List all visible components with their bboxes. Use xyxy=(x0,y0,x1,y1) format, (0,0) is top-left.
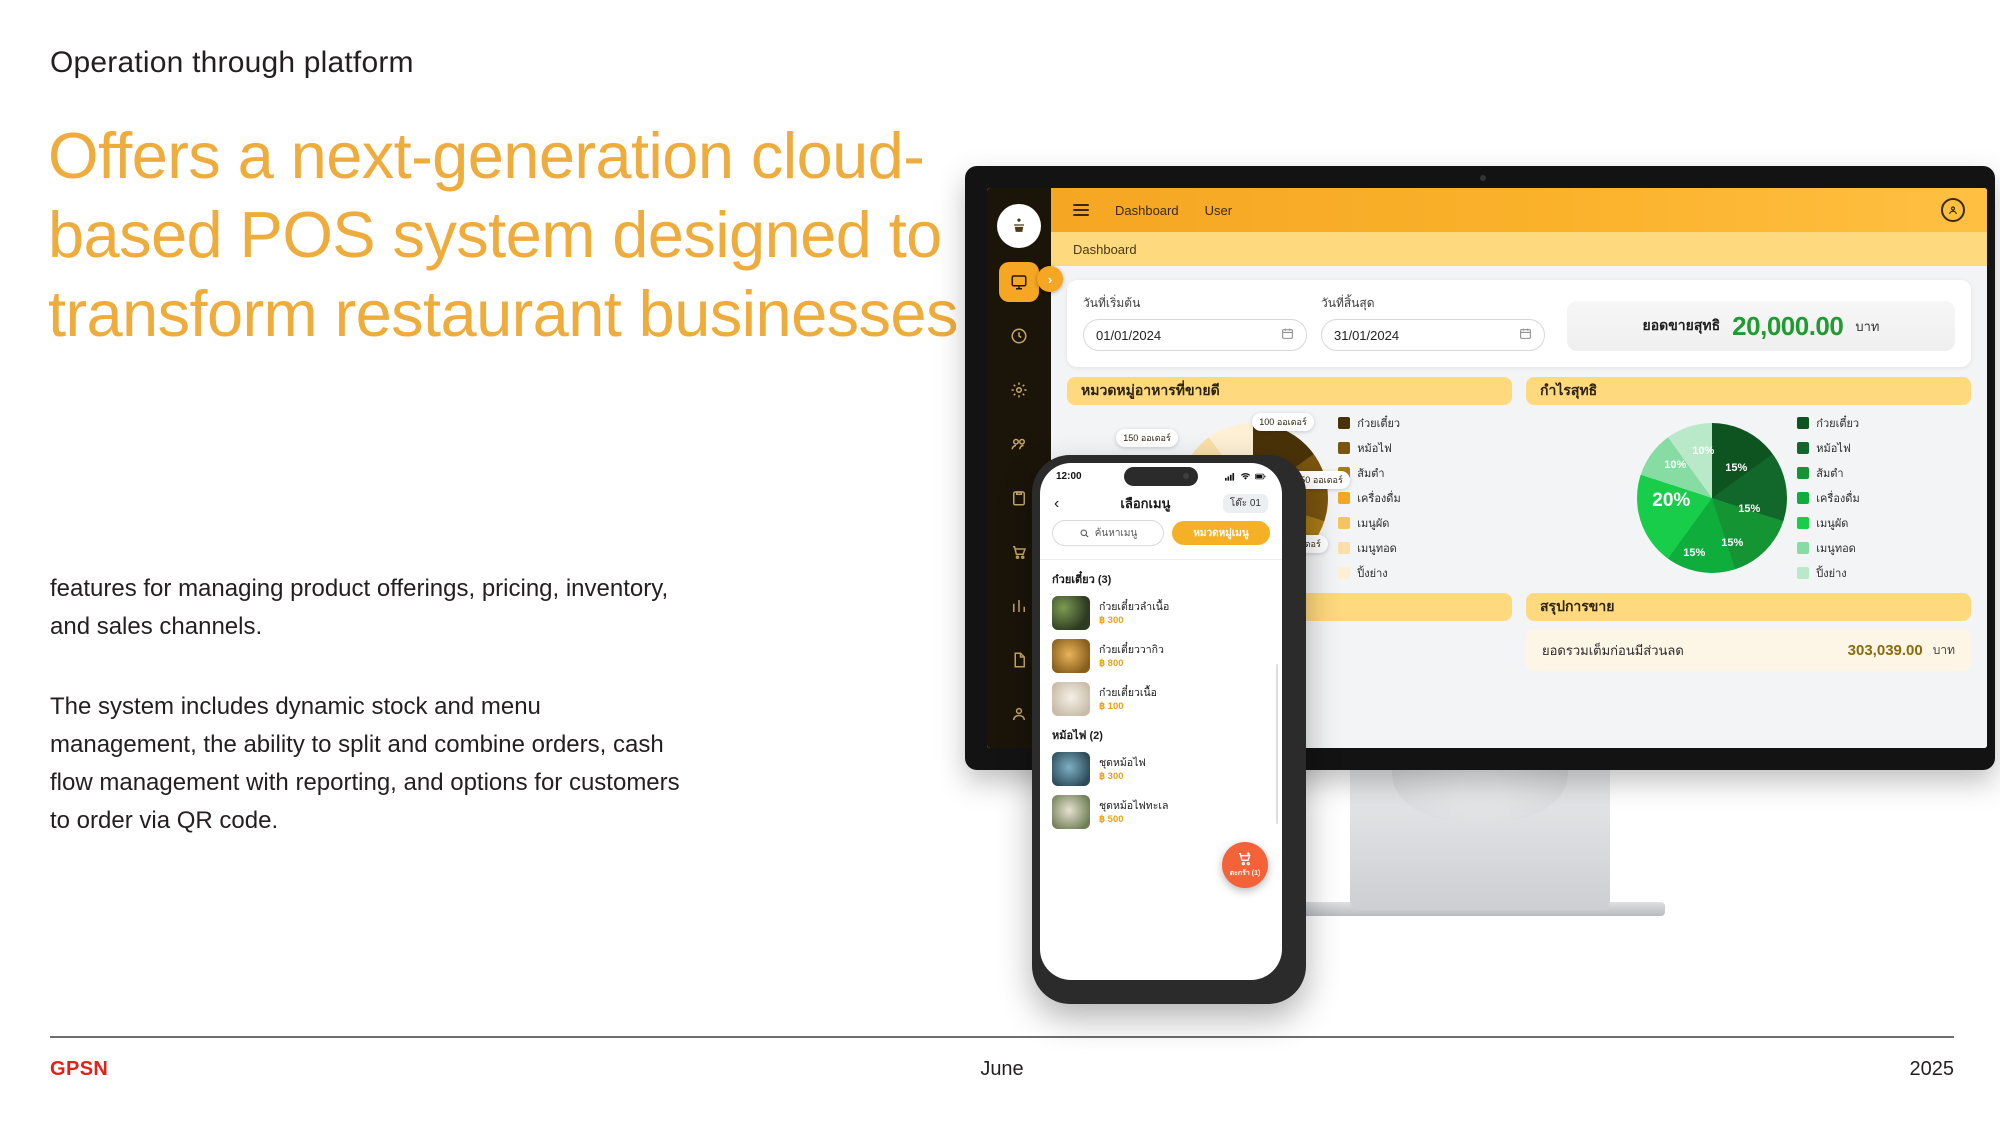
legend-label: เครื่องดื่ม xyxy=(1816,489,1859,507)
sidebar-item-group[interactable] xyxy=(999,424,1039,464)
wifi-icon xyxy=(1240,472,1251,481)
legend-label: ก๋วยเตี๋ยว xyxy=(1816,414,1859,432)
cart-button[interactable]: ตะกร้า (1) xyxy=(1222,842,1268,888)
net-profit-chart: 15% 15% 15% 15% 20% 10% 10% xyxy=(1526,413,1971,583)
body-copy: features for managing product offerings,… xyxy=(50,570,690,840)
legend-label: ปิ้งย่าง xyxy=(1357,564,1387,582)
menu-item-name: ชุดหม้อไฟ xyxy=(1099,756,1146,770)
pie-label-3: 15% xyxy=(1721,537,1743,549)
user-circle-icon[interactable] xyxy=(1941,198,1965,222)
net-profit-panel: กำไรสุทธิ 15% 15% 15% 15% 20% 10% xyxy=(1526,377,1971,583)
pie-label-2: 15% xyxy=(1738,503,1760,515)
legend-item: เมนูทอด xyxy=(1338,539,1400,557)
net-profit-title: กำไรสุทธิ xyxy=(1526,377,1971,405)
list-scrollbar[interactable] xyxy=(1276,664,1278,824)
net-profit-legend: ก๋วยเตี๋ยว หม้อไฟ ส้มตำ เครื่องดื่ม เมนู… xyxy=(1797,414,1859,582)
sidebar-item-settings[interactable] xyxy=(999,370,1039,410)
summary-unit: บาท xyxy=(1933,641,1955,660)
legend-item: ก๋วยเตี๋ยว xyxy=(1338,414,1400,432)
legend-item: ส้มตำ xyxy=(1797,464,1859,482)
legend-item: ปิ้งย่าง xyxy=(1338,564,1400,582)
legend-item: หม้อไฟ xyxy=(1797,439,1859,457)
legend-label: หม้อไฟ xyxy=(1816,439,1850,457)
summary-value: 303,039.00 xyxy=(1848,642,1923,659)
list-item[interactable]: ชุดหม้อไฟทะเล ฿ 500 xyxy=(1052,795,1270,829)
net-sales-label: ยอดขายสุทธิ xyxy=(1643,315,1721,337)
list-item[interactable]: ก๋วยเตี๋ยวเนื้อ ฿ 100 xyxy=(1052,682,1270,716)
legend-swatch xyxy=(1797,542,1809,554)
search-icon xyxy=(1079,528,1090,539)
end-date-value: 31/01/2024 xyxy=(1334,328,1399,343)
legend-swatch xyxy=(1338,442,1350,454)
phone-nav-bar: ‹ เลือกเมนู โต๊ะ 01 xyxy=(1040,489,1282,520)
menu-item-price: ฿ 300 xyxy=(1099,771,1146,782)
chevron-left-icon[interactable]: ‹ xyxy=(1054,495,1068,513)
dynamic-island xyxy=(1124,467,1198,486)
menu-item-name: ชุดหม้อไฟทะเล xyxy=(1099,799,1168,813)
menu-group-title: ก๋วยเตี๋ยว (3) xyxy=(1052,570,1270,588)
legend-item: เครื่องดื่ม xyxy=(1338,489,1400,507)
breadcrumb: Dashboard xyxy=(1051,232,1987,266)
legend-label: หม้อไฟ xyxy=(1357,439,1391,457)
menu-item-price: ฿ 800 xyxy=(1099,658,1164,669)
filter-card: วันที่เริ่มต้น 01/01/2024 xyxy=(1067,280,1971,367)
donut-label-2: 100 ออเดอร์ xyxy=(1252,413,1314,431)
menu-item-thumbnail xyxy=(1052,596,1090,630)
menu-item-thumbnail xyxy=(1052,795,1090,829)
footer-month: June xyxy=(50,1058,1954,1081)
legend-swatch xyxy=(1797,517,1809,529)
pie-label-4: 15% xyxy=(1683,547,1705,559)
footer: GPSN June 2025 xyxy=(50,1052,1954,1092)
dashboard-topbar: Dashboard User xyxy=(1051,188,1987,232)
top-categories-legend: ก๋วยเตี๋ยว หม้อไฟ ส้มตำ เครื่องดื่ม เมนู… xyxy=(1338,414,1400,582)
body-paragraph-2: The system includes dynamic stock and me… xyxy=(50,688,690,840)
legend-swatch xyxy=(1797,417,1809,429)
pie-chart: 15% 15% 15% 15% 20% 10% 10% xyxy=(1637,423,1787,573)
menu-group-title: หม้อไฟ (2) xyxy=(1052,726,1270,744)
summary-label: ยอดรวมเต็มก่อนมีส่วนลด xyxy=(1542,640,1684,661)
summary-line: ยอดรวมเต็มก่อนมีส่วนลด 303,039.00 บาท xyxy=(1526,629,1971,671)
sales-summary-title: สรุปการขาย xyxy=(1526,593,1971,621)
body-paragraph-1: features for managing product offerings,… xyxy=(50,570,690,646)
legend-label: ปิ้งย่าง xyxy=(1816,564,1846,582)
pie-label-1: 15% xyxy=(1725,462,1747,474)
calendar-icon[interactable] xyxy=(1281,327,1294,343)
page-title: Offers a next-generation cloud-based POS… xyxy=(48,116,978,353)
legend-label: เครื่องดื่ม xyxy=(1357,489,1400,507)
phone-status-bar: 12:00 xyxy=(1040,463,1282,489)
search-placeholder: ค้นหาเมนู xyxy=(1095,526,1138,541)
menu-item-price: ฿ 300 xyxy=(1099,615,1169,626)
phone-search-row: ค้นหาเมนู หมวดหมู่เมนู xyxy=(1040,520,1282,554)
legend-swatch xyxy=(1338,567,1350,579)
net-sales-unit: บาท xyxy=(1855,316,1879,337)
eyebrow-text: Operation through platform xyxy=(50,46,414,80)
legend-label: ส้มตำ xyxy=(1357,464,1384,482)
list-item[interactable]: ชุดหม้อไฟ ฿ 300 xyxy=(1052,752,1270,786)
legend-label: ส้มตำ xyxy=(1816,464,1843,482)
legend-label: เมนูผัด xyxy=(1357,514,1389,532)
end-date-label: วันที่สิ้นสุด xyxy=(1321,294,1545,313)
list-item[interactable]: ก๋วยเตี๋ยวลำเนื้อ ฿ 300 xyxy=(1052,596,1270,630)
legend-item: เครื่องดื่ม xyxy=(1797,489,1859,507)
sales-summary-panel: สรุปการขาย ยอดรวมเต็มก่อนมีส่วนลด 303,03… xyxy=(1526,593,1971,671)
list-item[interactable]: ก๋วยเตี๋ยววากิว ฿ 800 xyxy=(1052,639,1270,673)
menu-list[interactable]: ก๋วยเตี๋ยว (3) ก๋วยเตี๋ยวลำเนื้อ ฿ 300 ก… xyxy=(1040,559,1282,980)
start-date-field: วันที่เริ่มต้น 01/01/2024 xyxy=(1083,294,1307,351)
status-time: 12:00 xyxy=(1056,471,1082,482)
category-button[interactable]: หมวดหมู่เมนู xyxy=(1172,521,1270,545)
legend-swatch xyxy=(1797,467,1809,479)
sidebar-toggle-button[interactable]: › xyxy=(1037,266,1063,292)
phone-screen: 12:00 ‹ เลือกเมนู โต๊ะ 01 ค้นหาเมนู หมวด… xyxy=(1040,463,1282,980)
legend-swatch xyxy=(1338,492,1350,504)
table-badge: โต๊ะ 01 xyxy=(1223,494,1268,513)
hamburger-icon[interactable] xyxy=(1073,204,1089,216)
start-date-input[interactable]: 01/01/2024 xyxy=(1083,319,1307,351)
legend-item: ปิ้งย่าง xyxy=(1797,564,1859,582)
legend-item: เมนูทอด xyxy=(1797,539,1859,557)
pie-label-6: 10% xyxy=(1664,459,1686,471)
battery-icon xyxy=(1255,472,1266,481)
status-icons xyxy=(1225,472,1266,481)
top-categories-title: หมวดหมู่อาหารที่ขายดี xyxy=(1067,377,1512,405)
donut-label-1: 150 ออเดอร์ xyxy=(1116,429,1178,447)
legend-swatch xyxy=(1797,567,1809,579)
monitor-stand xyxy=(1350,770,1610,910)
start-date-label: วันที่เริ่มต้น xyxy=(1083,294,1307,313)
net-sales-value: 20,000.00 xyxy=(1732,311,1843,342)
nav-item-dashboard[interactable]: Dashboard xyxy=(1115,203,1179,218)
menu-item-thumbnail xyxy=(1052,752,1090,786)
menu-item-thumbnail xyxy=(1052,682,1090,716)
legend-label: เมนูผัด xyxy=(1816,514,1848,532)
net-sales-card: ยอดขายสุทธิ 20,000.00 บาท xyxy=(1567,301,1955,351)
calendar-icon[interactable] xyxy=(1519,327,1532,343)
legend-swatch xyxy=(1338,542,1350,554)
legend-item: ก๋วยเตี๋ยว xyxy=(1797,414,1859,432)
menu-item-name: ก๋วยเตี๋ยววากิว xyxy=(1099,643,1164,657)
menu-item-thumbnail xyxy=(1052,639,1090,673)
legend-item: เมนูผัด xyxy=(1338,514,1400,532)
sidebar-item-dashboard[interactable] xyxy=(999,262,1039,302)
legend-label: เมนูทอด xyxy=(1816,539,1856,557)
legend-item: เมนูผัด xyxy=(1797,514,1859,532)
end-date-input[interactable]: 31/01/2024 xyxy=(1321,319,1545,351)
cart-label: ตะกร้า (1) xyxy=(1230,868,1261,879)
menu-item-name: ก๋วยเตี๋ยวเนื้อ xyxy=(1099,686,1157,700)
legend-label: ก๋วยเตี๋ยว xyxy=(1357,414,1400,432)
footer-year: 2025 xyxy=(1910,1058,1955,1081)
pie-label-5: 20% xyxy=(1652,490,1690,512)
menu-item-price: ฿ 500 xyxy=(1099,814,1168,825)
search-input[interactable]: ค้นหาเมนู xyxy=(1052,520,1164,546)
menu-item-price: ฿ 100 xyxy=(1099,701,1157,712)
phone-mockup: 12:00 ‹ เลือกเมนู โต๊ะ 01 ค้นหาเมนู หมวด… xyxy=(1032,455,1306,1004)
legend-label: เมนูทอด xyxy=(1357,539,1397,557)
end-date-field: วันที่สิ้นสุด 31/01/2024 xyxy=(1321,294,1545,351)
legend-swatch xyxy=(1797,492,1809,504)
legend-item: หม้อไฟ xyxy=(1338,439,1400,457)
sidebar-item-clock[interactable] xyxy=(999,316,1039,356)
legend-swatch xyxy=(1338,417,1350,429)
cellular-icon xyxy=(1225,472,1236,481)
phone-title: เลือกเมนู xyxy=(1076,493,1215,514)
legend-swatch xyxy=(1338,517,1350,529)
menu-item-name: ก๋วยเตี๋ยวลำเนื้อ xyxy=(1099,600,1169,614)
footer-divider xyxy=(50,1036,1954,1038)
start-date-value: 01/01/2024 xyxy=(1096,328,1161,343)
pie-label-7: 10% xyxy=(1692,445,1714,457)
brand-logo xyxy=(997,204,1041,248)
cart-plus-icon xyxy=(1237,851,1253,867)
webcam-icon xyxy=(1480,175,1486,181)
nav-item-user[interactable]: User xyxy=(1205,203,1232,218)
legend-swatch xyxy=(1797,442,1809,454)
